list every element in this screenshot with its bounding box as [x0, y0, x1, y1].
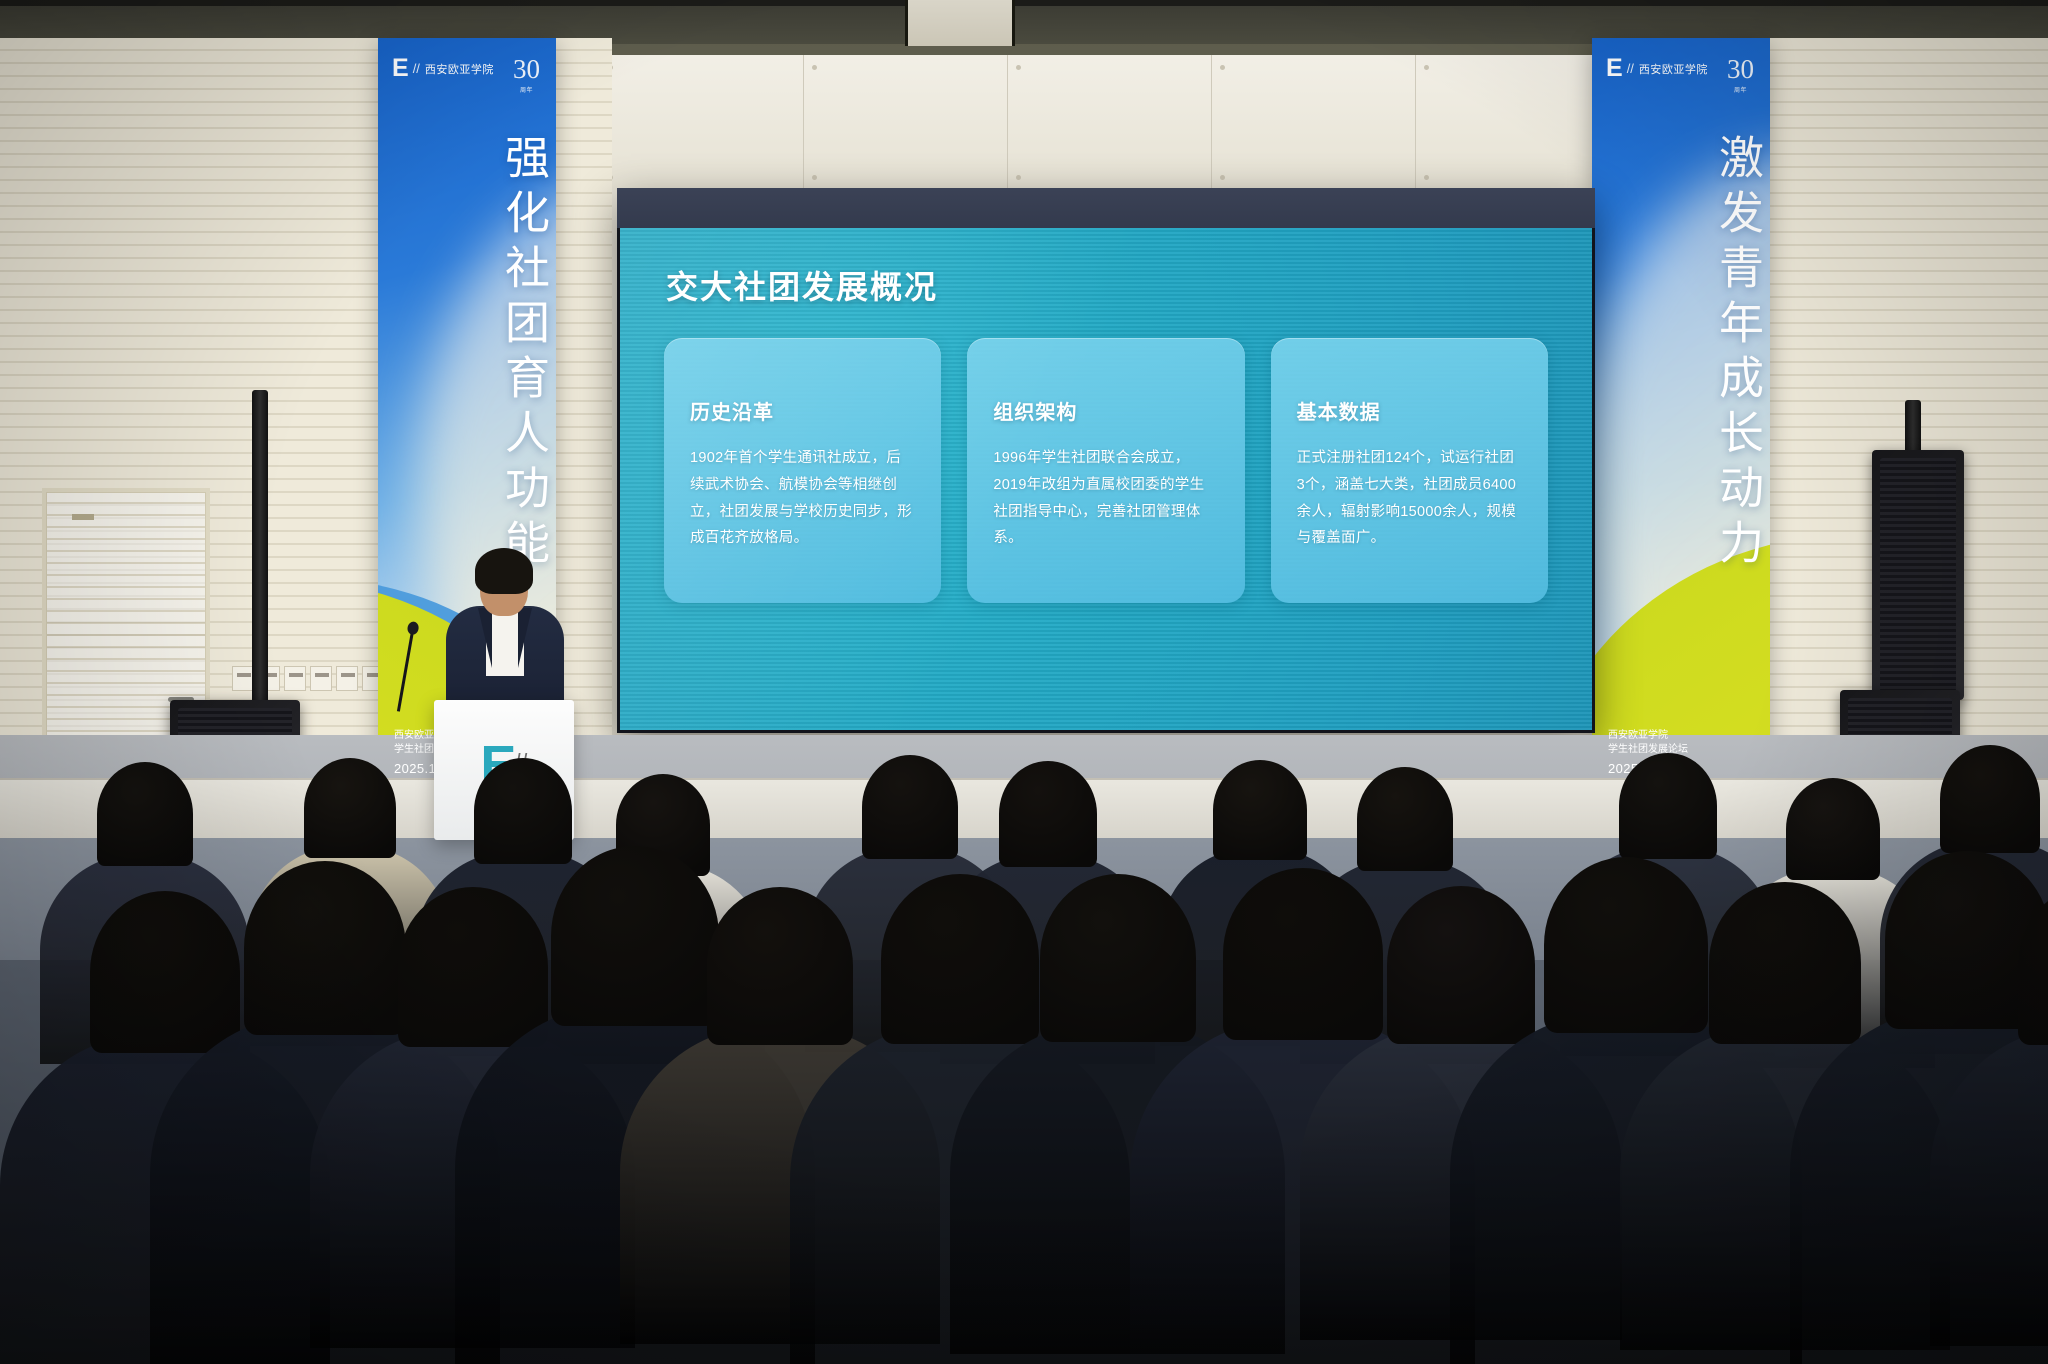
- banner-right: E // 西安欧亚学院 30 周年 激发青年成长动力 西安欧亚学院 学生社团发展…: [1592, 38, 1770, 798]
- wall-socket: [310, 666, 332, 691]
- eurasia-e-icon: E: [1606, 56, 1622, 81]
- wall-panel: [1008, 55, 1212, 190]
- audience-member: [1930, 866, 2048, 1346]
- door-sign: [72, 514, 94, 520]
- wall-panel: [1416, 55, 1620, 190]
- audience-member-head: [999, 761, 1097, 867]
- anniversary-number: 30: [1727, 54, 1754, 84]
- slide-card-row: 历史沿革 1902年首个学生通讯社成立，后续武术协会、航模协会等相继创立，社团发…: [664, 338, 1548, 603]
- banner-logo-left: E // 西安欧亚学院: [392, 56, 494, 81]
- anniversary-mark-right: 30 周年: [1727, 54, 1754, 94]
- logo-slash-icon: //: [413, 61, 420, 76]
- banner-organization-label: 西安欧亚学院: [425, 61, 494, 77]
- wall-socket: [284, 666, 306, 691]
- speaker-stand-left: [252, 390, 268, 720]
- wall-panel: [1212, 55, 1416, 190]
- logo-slash-icon: //: [1627, 61, 1634, 76]
- audience-member-body: [1930, 1026, 2048, 1346]
- pa-speaker-right-upper: [1872, 450, 1964, 700]
- presentation-slide: 交大社团发展概况 历史沿革 1902年首个学生通讯社成立，后续武术协会、航模协会…: [620, 228, 1592, 730]
- audience-member-head: [2018, 885, 2048, 1045]
- anniversary-sub: 周年: [513, 85, 540, 94]
- wall-socket: [232, 666, 254, 691]
- slide-card-heading: 历史沿革: [690, 396, 915, 425]
- wall-panel: [600, 55, 804, 190]
- anniversary-sub: 周年: [1727, 85, 1754, 94]
- ceiling-strip: [0, 0, 2048, 6]
- slide-card-body: 1902年首个学生通讯社成立，后续武术协会、航模协会等相继创立，社团发展与学校历…: [690, 445, 915, 552]
- slide-card: 历史沿革 1902年首个学生通讯社成立，后续武术协会、航模协会等相继创立，社团发…: [664, 338, 941, 603]
- slide-card-body: 正式注册社团124个，试运行社团3个，涵盖七大类，社团成员6400余人，辐射影响…: [1297, 445, 1522, 552]
- slide-title: 交大社团发展概况: [666, 262, 938, 308]
- audience-member-head: [1213, 760, 1307, 860]
- anniversary-number: 30: [513, 54, 540, 84]
- presenter-hair: [475, 548, 533, 594]
- slide-card-heading: 基本数据: [1297, 396, 1522, 425]
- speaker-grill: [1880, 458, 1956, 692]
- presenter-lapel-right: [518, 608, 532, 668]
- eurasia-e-icon: E: [392, 56, 408, 81]
- slide-card: 组织架构 1996年学生社团联合会成立，2019年改组为直属校团委的学生社团指导…: [967, 338, 1244, 603]
- presenter-lapel-left: [478, 608, 492, 668]
- ceiling-vent: [905, 0, 1015, 46]
- conference-scene: E // 西安欧亚学院 30 周年 强化社团育人功能 西安欧亚学院 学生社团发展…: [0, 0, 2048, 1364]
- slide-card-body: 1996年学生社团联合会成立，2019年改组为直属校团委的学生社团指导中心，完善…: [993, 445, 1218, 552]
- banner-organization-label: 西安欧亚学院: [1639, 61, 1708, 77]
- banner-slogan-right: 激发青年成长动力: [1592, 134, 1770, 664]
- slide-card-heading: 组织架构: [993, 396, 1218, 425]
- upper-wall-panels: [600, 55, 1620, 190]
- banner-logo-right: E // 西安欧亚学院: [1606, 56, 1708, 81]
- wall-panel: [804, 55, 1008, 190]
- anniversary-mark-left: 30 周年: [513, 54, 540, 94]
- led-screen-top-bezel: [617, 188, 1595, 228]
- slide-card: 基本数据 正式注册社团124个，试运行社团3个，涵盖七大类，社团成员6400余人…: [1271, 338, 1548, 603]
- wall-socket: [336, 666, 358, 691]
